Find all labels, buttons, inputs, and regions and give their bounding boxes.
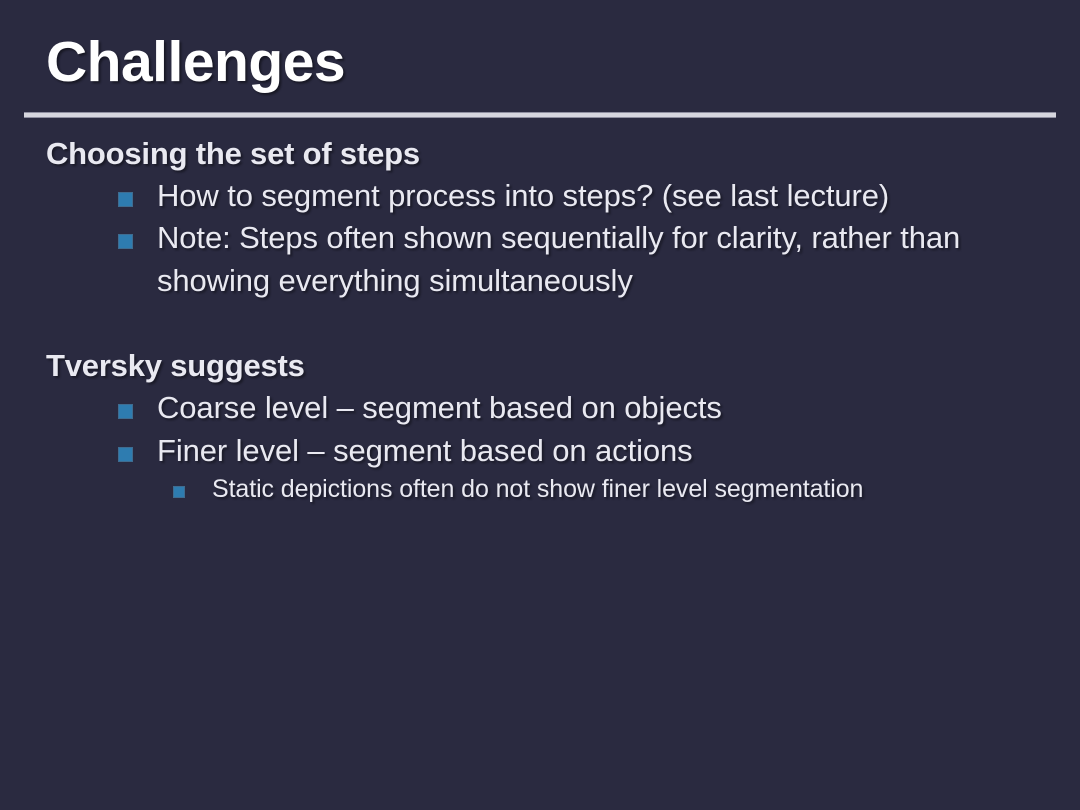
bullet-square-icon: [118, 234, 133, 249]
list-item: Coarse level – segment based on objects: [0, 387, 1080, 429]
section-heading: Choosing the set of steps: [0, 134, 1080, 175]
list-item: Finer level – segment based on actions: [0, 430, 1080, 472]
bullet-square-icon: [118, 447, 133, 462]
list-item-label: How to segment process into steps? (see …: [157, 178, 889, 213]
page-title: Challenges: [46, 30, 345, 96]
list-item-sub: Static depictions often do not show fine…: [0, 472, 1080, 507]
bullet-square-icon: [173, 486, 185, 498]
list-item-label: Coarse level – segment based on objects: [157, 390, 722, 425]
bullet-square-icon: [118, 192, 133, 207]
section-heading: Tversky suggests: [0, 346, 1080, 387]
list-item-label: Static depictions often do not show fine…: [212, 475, 863, 503]
bullet-list: How to segment process into steps? (see …: [0, 175, 1080, 302]
list-item-label: Finer level – segment based on actions: [157, 433, 693, 468]
list-item: Note: Steps often shown sequentially for…: [0, 217, 1080, 302]
list-item: How to segment process into steps? (see …: [0, 175, 1080, 217]
slide-body: Choosing the set of steps How to segment…: [0, 134, 1080, 507]
section-spacer: [0, 302, 1080, 346]
title-divider: [24, 112, 1056, 118]
bullet-list: Coarse level – segment based on objects …: [0, 387, 1080, 507]
section-tversky-suggests: Tversky suggests Coarse level – segment …: [0, 346, 1080, 507]
presentation-slide: Challenges Choosing the set of steps How…: [0, 0, 1080, 810]
list-item-label: Note: Steps often shown sequentially for…: [157, 220, 960, 297]
bullet-square-icon: [118, 404, 133, 419]
section-choosing-the-set-of-steps: Choosing the set of steps How to segment…: [0, 134, 1080, 302]
